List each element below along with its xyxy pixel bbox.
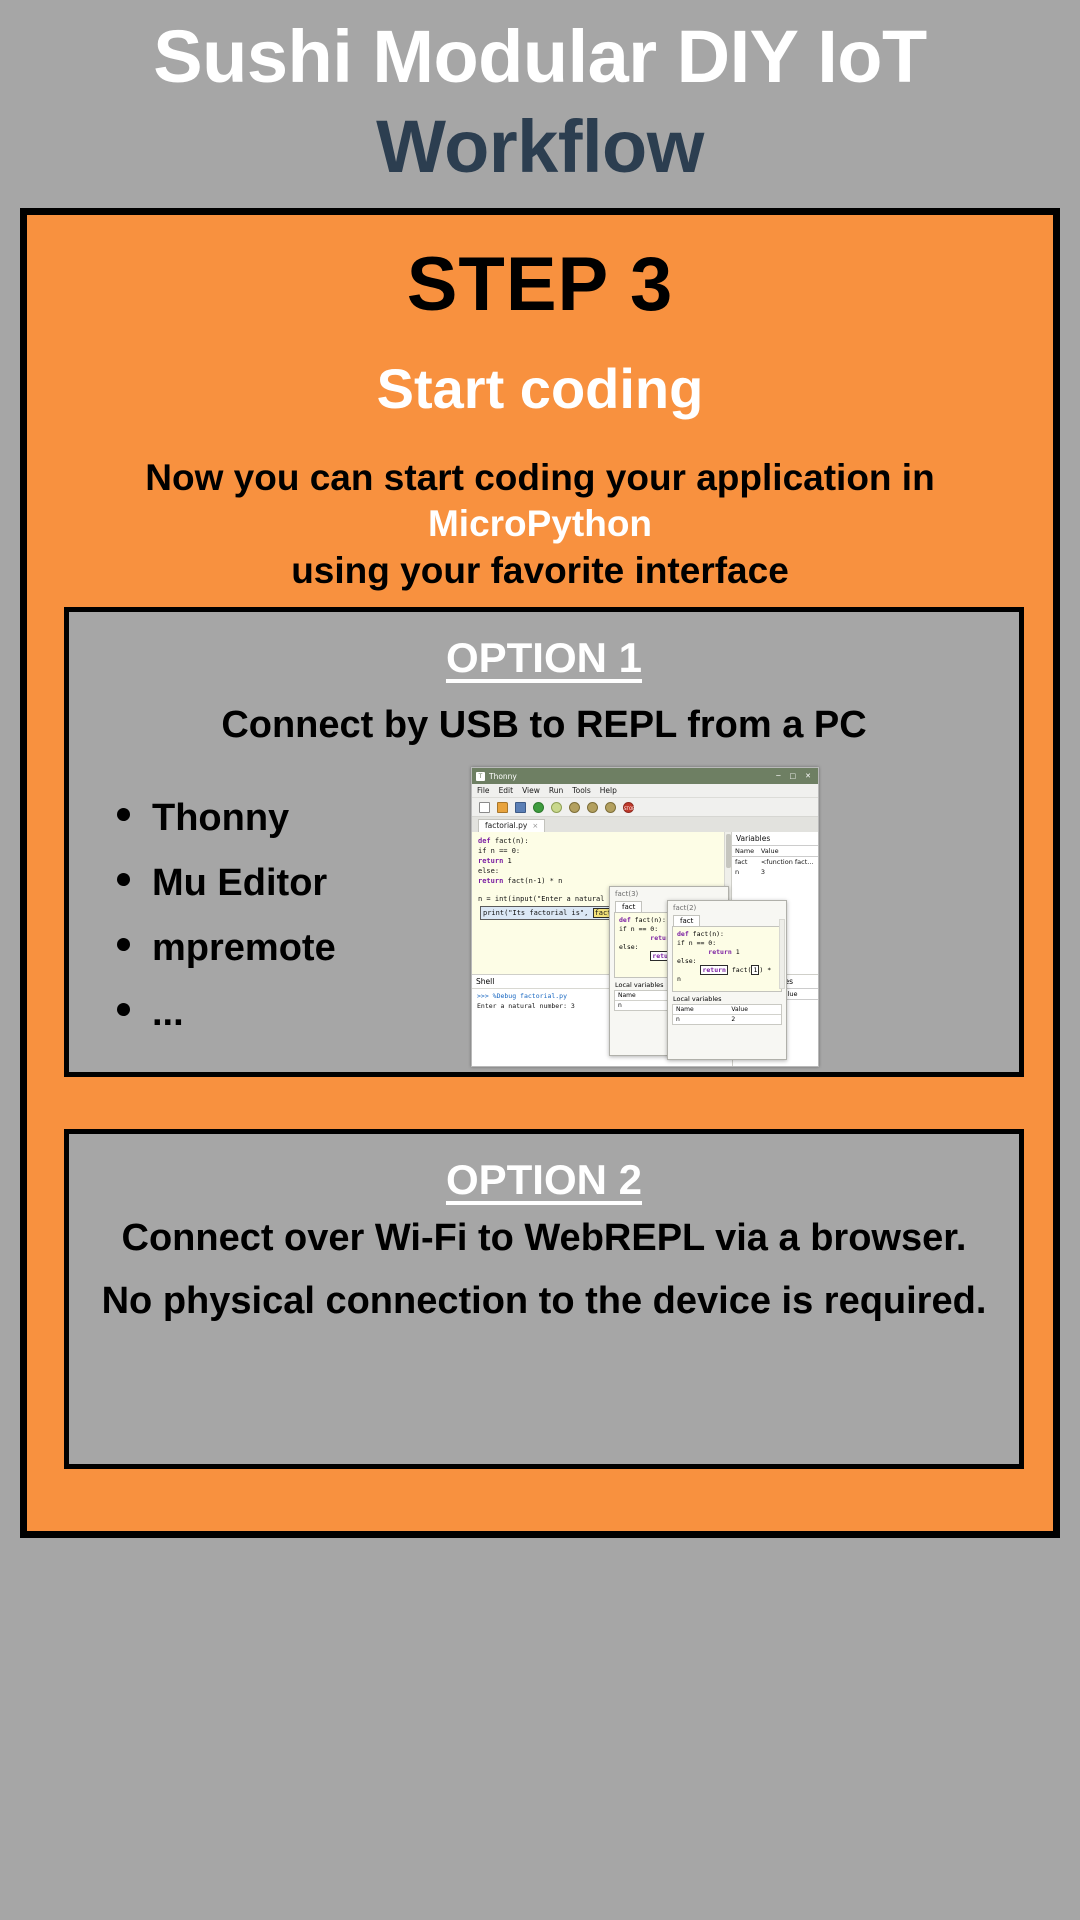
code-line: return fact(1) * n [677,966,777,984]
variables-table: Name Value fact <function fact... n 3 [732,845,818,877]
thonny-screenshot: T Thonny ─ □ ✕ File Edit View Run Too [471,767,819,1067]
option-1-headline: Connect by USB to REPL from a PC [69,700,1019,751]
list-item: mpremote [117,927,469,970]
code-text: print("Its factorial is", [483,909,593,917]
option-2-box: OPTION 2 Connect over Wi-Fi to WebREPL v… [64,1129,1024,1469]
page-title: Sushi Modular DIY IoT Workflow [20,12,1060,193]
code-keyword: return [478,857,503,865]
step-description: Now you can start coding your applicatio… [27,455,1053,594]
thonny-title-bar: T Thonny ─ □ ✕ [472,768,818,784]
table-row: n 2 [673,1015,781,1025]
stop-icon[interactable]: STOP [623,802,634,813]
list-item: Thonny [117,797,469,840]
stack-frame-tab[interactable]: fact [615,901,642,912]
table-header-row: Name Value [732,846,818,857]
code-text: fact(n-1) * n [503,877,562,885]
editor-tab-strip: factorial.py × [472,817,818,832]
bullet-dot-icon [117,808,130,821]
step-description-part1: Now you can start coding your applicatio… [145,457,934,498]
code-keyword: def [677,930,689,938]
table-row: fact <function fact... [732,857,818,868]
save-icon[interactable] [515,802,526,813]
stack-frame-window-fact2[interactable]: fact(2) fact def fact(n): if n == 0: ret… [667,900,787,1060]
table-row: n 3 [732,867,818,877]
step-card: STEP 3 Start coding Now you can start co… [20,208,1060,1538]
variables-panel-title: Variables [732,832,818,845]
page-title-line-1: Sushi Modular DIY IoT [20,12,1060,102]
tool-label: Mu Editor [152,862,327,905]
variable-name: n [732,867,758,877]
code-text: 1 [503,857,511,865]
stack-frame-tabstrip: fact [668,915,786,926]
variable-name: fact [732,857,758,868]
column-header-name: Name [615,991,670,1001]
page-title-line-2: Workflow [20,102,1060,192]
stack-frame-local-table: Name Value n 2 [673,1005,781,1024]
open-folder-icon[interactable] [497,802,508,813]
column-header-name: Name [732,846,758,857]
tool-list: Thonny Mu Editor mpremote ... [117,797,469,1035]
run-icon[interactable] [533,802,544,813]
menu-item-run[interactable]: Run [549,786,563,795]
infographic-page: Sushi Modular DIY IoT Workflow STEP 3 St… [0,0,1080,1920]
step-description-part2: using your favorite interface [291,550,789,591]
code-line: if n == 0: [478,846,731,856]
thonny-window-title: Thonny [489,772,517,781]
variable-value: <function fact... [758,857,818,868]
code-line: def fact(n): [478,836,731,846]
option-1-title: OPTION 1 [69,634,1019,682]
variable-name: n [673,1015,728,1025]
thonny-toolbar: STOP [472,798,818,817]
column-header-value: Value [728,1005,781,1015]
code-keyword: return [677,948,732,956]
call-arg-selected: 1 [751,965,759,975]
step-subtitle: Start coding [27,356,1053,421]
menu-item-tools[interactable]: Tools [572,786,590,795]
column-header-value: Value [758,846,818,857]
option-2-title: OPTION 2 [69,1156,1019,1204]
code-keyword: return [619,934,674,942]
stack-frame-title: fact(3) [610,887,728,901]
close-icon[interactable]: ✕ [805,773,811,780]
maximize-icon[interactable]: □ [790,773,797,780]
step-into-icon[interactable] [587,802,598,813]
option-2-line-1: Connect over Wi-Fi to WebREPL via a brow… [69,1210,1019,1267]
option-2-line-2: No physical connection to the device is … [69,1273,1019,1330]
code-keyword: def [478,837,491,845]
editor-tab-label: factorial.py [485,821,527,830]
step-out-icon[interactable] [605,802,616,813]
window-controls: ─ □ ✕ [776,773,814,780]
thonny-app-icon: T [476,772,485,781]
code-line: def fact(n): [677,930,777,939]
tool-label: ... [152,992,184,1035]
table-header-row: Name Value [673,1005,781,1015]
minimize-icon[interactable]: ─ [776,773,780,780]
stack-frame-title: fact(2) [668,901,786,915]
list-item: Mu Editor [117,862,469,905]
stack-frame-local-title: Local variables [668,992,786,1004]
code-line: if n == 0: [677,939,777,948]
stack-frame-tab[interactable]: fact [673,915,700,926]
debug-icon[interactable] [551,802,562,813]
new-file-icon[interactable] [479,802,490,813]
code-text: fact(n): [491,837,529,845]
step-number: STEP 3 [27,241,1053,328]
stack-frame-local-table-wrap: Name Value n 2 [672,1004,782,1025]
variable-name: n [615,1001,670,1011]
menu-item-view[interactable]: View [522,786,540,795]
code-line: return fact(n-1) * n [478,876,731,886]
variable-value: 3 [758,867,818,877]
bullet-dot-icon [117,873,130,886]
tool-label: Thonny [152,797,289,840]
option-1-body: Thonny Mu Editor mpremote ... [69,765,1019,1067]
code-keyword-selected: return [700,965,727,975]
tool-label: mpremote [152,927,336,970]
stack-frame-code: def fact(n): if n == 0: return 1 else: r… [672,926,782,992]
code-line: return 1 [478,856,731,866]
variable-value: 2 [728,1015,781,1025]
step-description-highlight: MicroPython [428,503,652,544]
column-header-name: Name [673,1005,728,1015]
option-1-box: OPTION 1 Connect by USB to REPL from a P… [64,607,1024,1077]
stack-frame-scrollbar[interactable] [779,919,785,989]
code-line: return 1 [677,948,777,957]
menu-item-edit[interactable]: Edit [499,786,514,795]
code-line: else: [478,866,731,876]
list-item: ... [117,992,469,1035]
bullet-dot-icon [117,1003,130,1016]
tab-close-icon[interactable]: × [532,822,538,830]
code-keyword: def [619,916,631,924]
option-1-tool-list-wrap: Thonny Mu Editor mpremote ... [69,765,469,1067]
bullet-dot-icon [117,938,130,951]
thonny-menu-bar: File Edit View Run Tools Help [472,784,818,798]
page-header: Sushi Modular DIY IoT Workflow [0,0,1080,193]
step-over-icon[interactable] [569,802,580,813]
menu-item-file[interactable]: File [477,786,490,795]
editor-tab-factorial[interactable]: factorial.py × [478,819,545,832]
code-keyword: return [478,877,503,885]
menu-item-help[interactable]: Help [600,786,617,795]
